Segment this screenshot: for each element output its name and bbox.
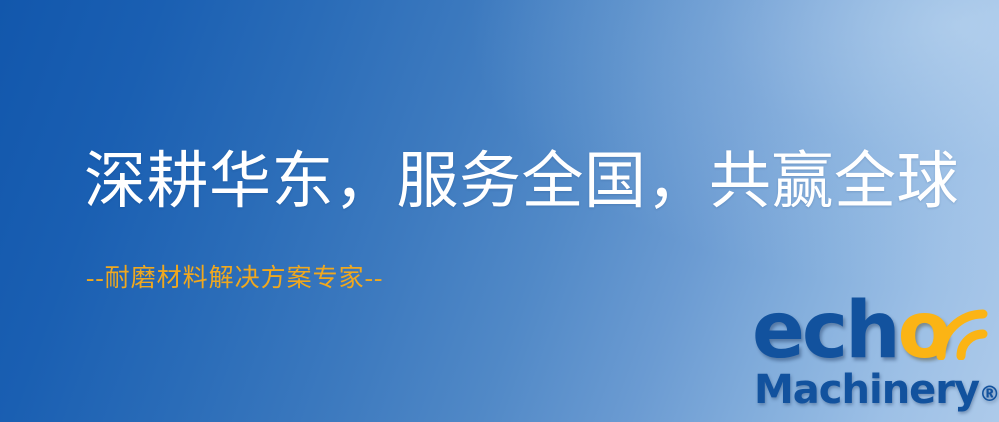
page-title: 深耕华东，服务全国，共赢全球 bbox=[84, 150, 959, 215]
brand-logo[interactable]: echo Machinery® bbox=[748, 298, 999, 422]
signal-waves-icon bbox=[933, 298, 999, 360]
page-subtitle: --耐磨材料解决方案专家-- bbox=[86, 265, 383, 293]
logo-wordmark-prefix: ech bbox=[752, 286, 898, 376]
hero-banner: 深耕华东，服务全国，共赢全球 --耐磨材料解决方案专家-- echo Machi… bbox=[0, 0, 999, 422]
logo-tagline-text: Machinery bbox=[754, 367, 979, 413]
logo-tagline: Machinery® bbox=[754, 370, 999, 410]
logo-wordmark: echo bbox=[752, 292, 948, 370]
registered-trademark-icon: ® bbox=[979, 382, 999, 406]
